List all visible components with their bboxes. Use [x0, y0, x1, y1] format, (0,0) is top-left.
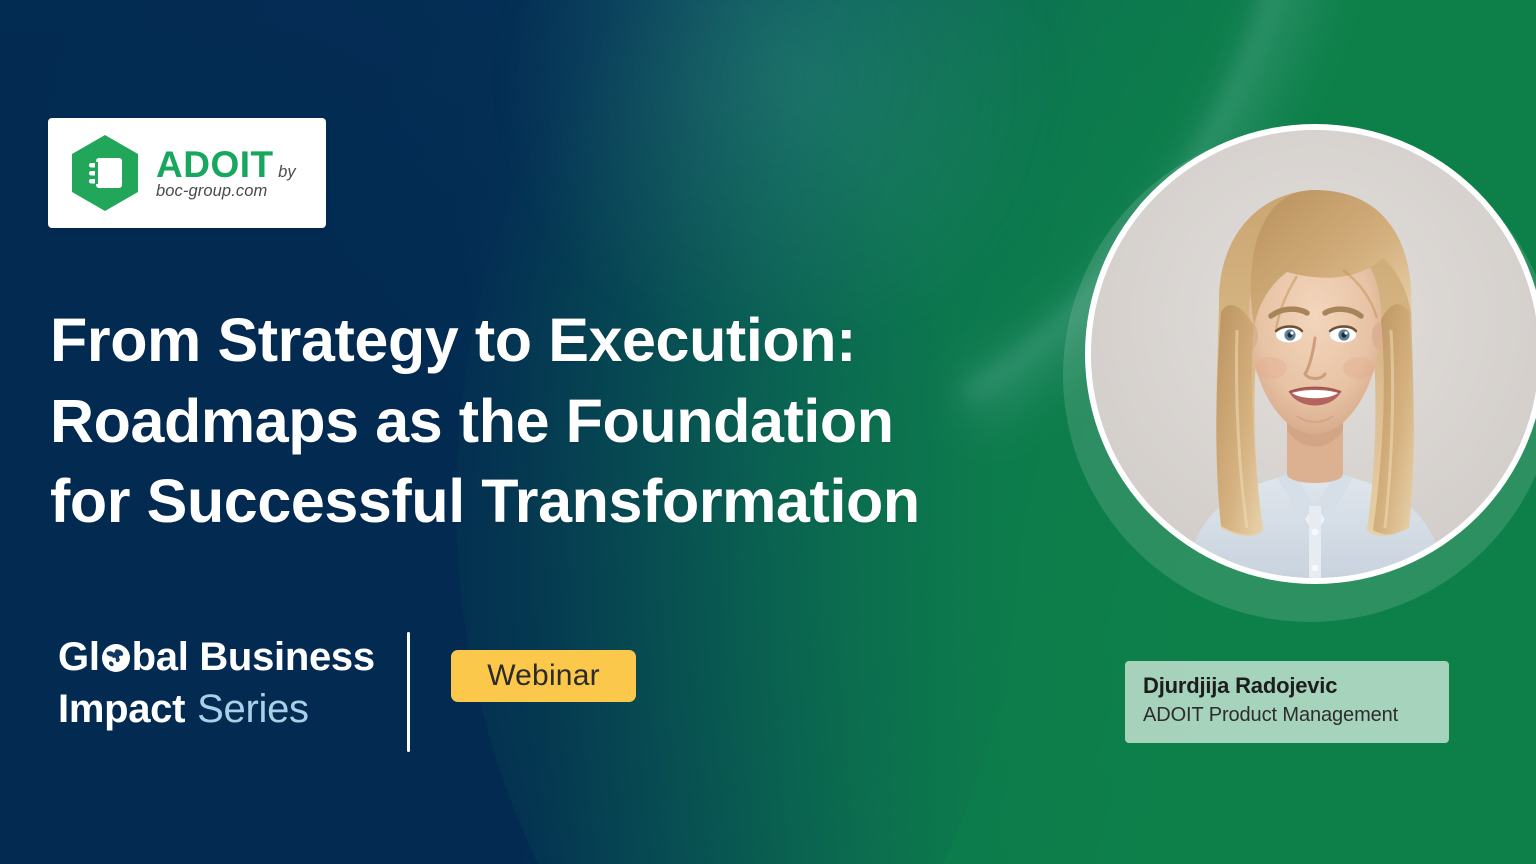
title-line-3: for Successful Transformation	[50, 461, 1060, 542]
speaker-portrait-photo	[1091, 130, 1536, 578]
speaker-name: Djurdjija Radojevic	[1143, 672, 1449, 700]
title-line-1: From Strategy to Execution:	[50, 300, 1060, 381]
webinar-title: From Strategy to Execution: Roadmaps as …	[50, 300, 1060, 542]
adoit-logo-name: ADOIT	[156, 144, 274, 185]
series-line-1: Gl bal Business	[58, 634, 375, 680]
speaker-portrait-wrapper	[1063, 128, 1536, 622]
webinar-badge[interactable]: Webinar	[451, 650, 636, 702]
series-text-impact: Impact	[58, 686, 185, 732]
series-text-obal-business: bal Business	[132, 634, 375, 680]
title-line-2: Roadmaps as the Foundation	[50, 381, 1060, 462]
globe-icon	[101, 643, 131, 673]
series-line-2: Impact Series	[58, 686, 375, 732]
vertical-divider	[407, 632, 410, 752]
series-text-series: Series	[197, 686, 309, 732]
speaker-nameplate: Djurdjija Radojevic ADOIT Product Manage…	[1125, 661, 1449, 743]
series-branding: Gl bal Business Impact Series	[58, 634, 375, 733]
adoit-hexagon-icon	[68, 133, 142, 213]
adoit-logo-card[interactable]: ADOIT by boc-group.com	[48, 118, 326, 228]
series-text-gl: Gl	[58, 634, 100, 680]
speaker-role: ADOIT Product Management	[1143, 702, 1449, 728]
